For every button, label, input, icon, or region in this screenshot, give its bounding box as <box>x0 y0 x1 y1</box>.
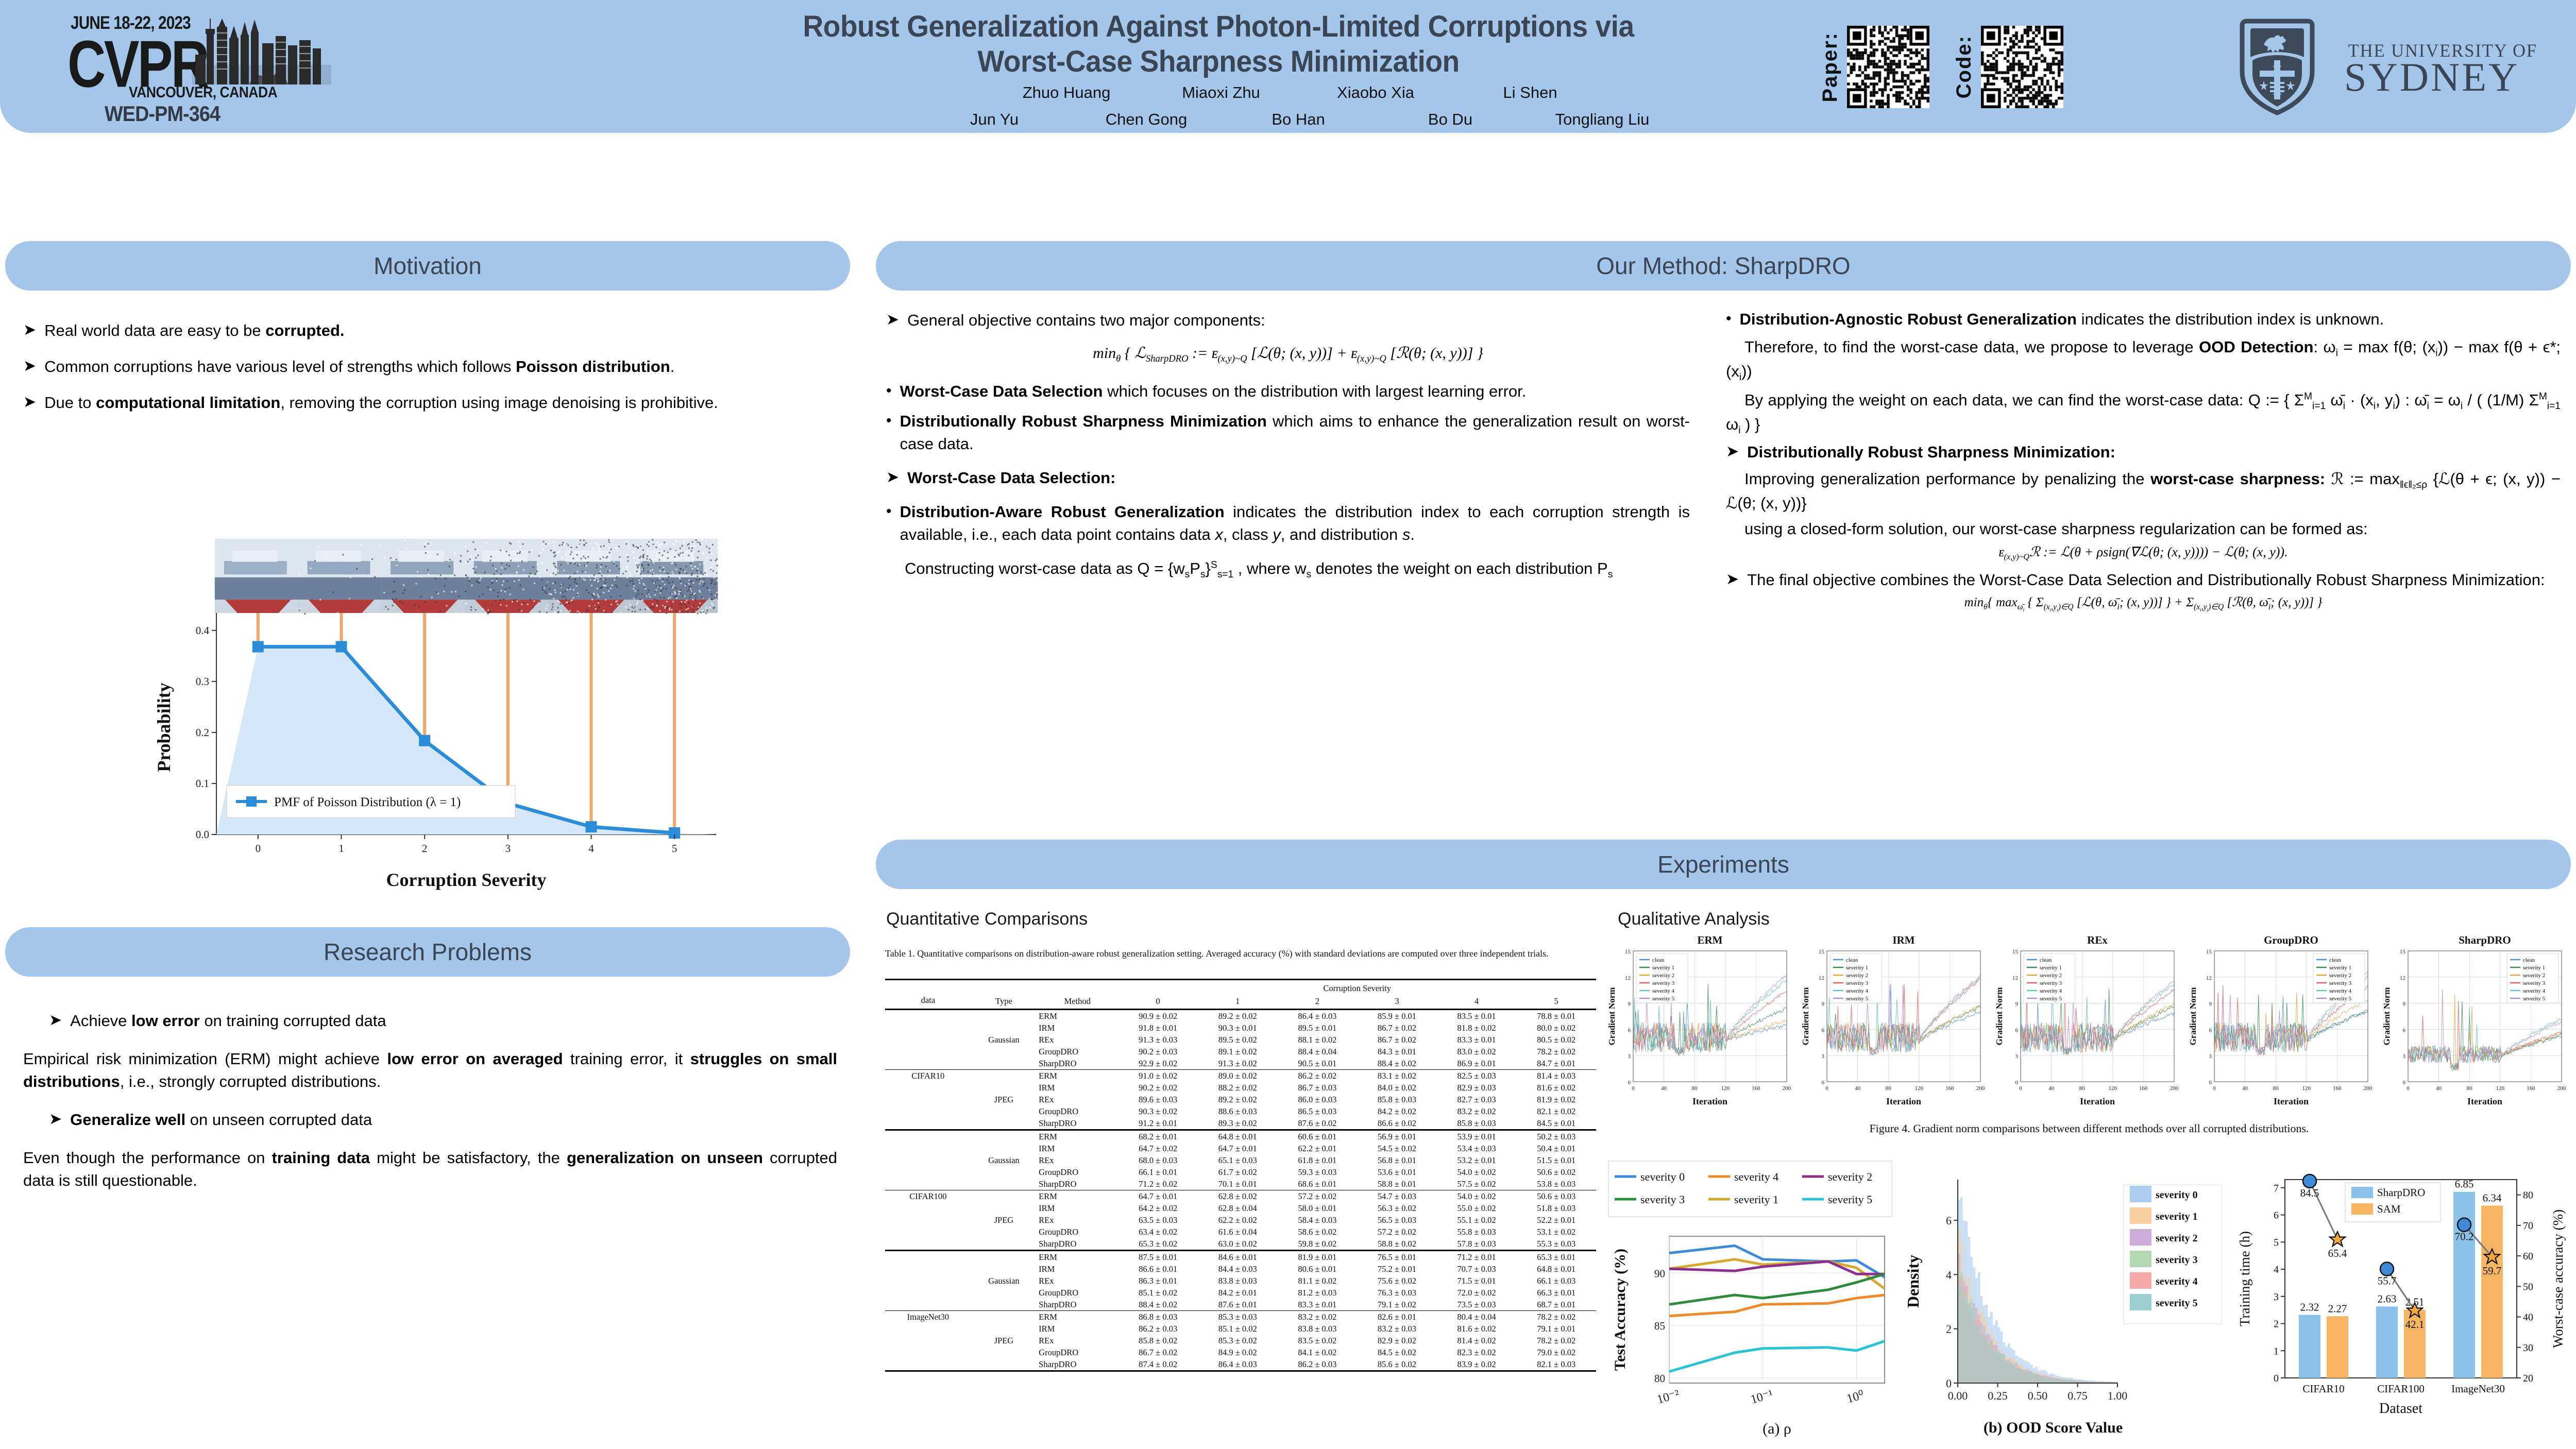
svg-text:severity 2: severity 2 <box>2523 973 2545 979</box>
svg-text:clean: clean <box>1846 957 1858 963</box>
accuracy-value: 65.4 <box>2328 1247 2347 1259</box>
svg-text:severity 5: severity 5 <box>2329 996 2352 1002</box>
bar-sam <box>2481 1206 2503 1378</box>
svg-text:0: 0 <box>2213 1085 2216 1092</box>
svg-text:80: 80 <box>1654 1372 1665 1385</box>
qualitative-analysis-label: Qualitative Analysis <box>1618 909 1770 929</box>
paper-qr-label: Paper: <box>1819 32 1842 103</box>
time-xlabel: Dataset <box>2379 1401 2422 1417</box>
table-row: IRM86.6 ± 0.0184.4 ± 0.0380.6 ± 0.0175.2… <box>885 1263 1596 1275</box>
svg-text:severity 1: severity 1 <box>1846 965 1868 971</box>
svg-text:severity 1: severity 1 <box>1652 965 1674 971</box>
title-line-2: Worst-Case Sharpness Minimization <box>692 44 1745 79</box>
svg-text:severity 4: severity 4 <box>1734 1170 1778 1183</box>
svg-text:40: 40 <box>2523 1312 2533 1323</box>
table-row: GaussianREx86.3 ± 0.0183.8 ± 0.0381.1 ± … <box>885 1275 1596 1287</box>
svg-text:90: 90 <box>1654 1267 1665 1280</box>
university-logo: THE UNIVERSITY OF SYDNEY <box>2190 13 2550 116</box>
section-header-motivation: Motivation <box>5 241 850 291</box>
bar-sharpdro <box>2376 1306 2398 1378</box>
svg-text:4: 4 <box>588 842 594 855</box>
author: Chen Gong <box>1071 110 1223 129</box>
rho-legend: severity 0severity 1severity 2severity 3… <box>1608 1161 1892 1217</box>
arrow-bullet-icon: ➤ <box>886 309 899 331</box>
svg-text:120: 120 <box>2302 1085 2311 1092</box>
ood-ylabel: Density <box>1904 1255 1922 1308</box>
svg-text:0: 0 <box>1825 1085 1828 1092</box>
training-time-chart: 01234567203040506070802.322.2784.565.4CI… <box>2236 1159 2571 1440</box>
research-bullet-text: Achieve low error on training corrupted … <box>70 1010 386 1032</box>
svg-text:15: 15 <box>1625 949 1631 955</box>
method-bullet: • Worst-Case Data Selection which focuse… <box>886 380 1690 403</box>
panel-title: ERM <box>1698 934 1723 946</box>
gradient-panel-irm: IRM0369121504080120160200cleanseverity 1… <box>1801 933 1985 1109</box>
svg-text:15: 15 <box>2206 949 2212 955</box>
paper-qr-code[interactable] <box>1847 26 1929 108</box>
svg-text:0.50: 0.50 <box>2028 1389 2048 1402</box>
method-bullet-text: Distributionally Robust Sharpness Minimi… <box>1747 441 2115 464</box>
panel-legend: cleanseverity 1severity 2severity 3sever… <box>1830 953 1882 1003</box>
svg-text:85: 85 <box>1654 1320 1665 1332</box>
method-heading: Our Method: SharpDRO <box>1596 252 1850 280</box>
table-row: IRM64.7 ± 0.0264.7 ± 0.0162.2 ± 0.0154.5… <box>885 1143 1596 1154</box>
svg-text:0: 0 <box>1822 1080 1825 1086</box>
svg-text:1.00: 1.00 <box>2108 1389 2128 1402</box>
svg-text:severity 4: severity 4 <box>1652 988 1675 994</box>
arrow-bullet-icon: ➤ <box>1726 569 1739 591</box>
svg-text:40: 40 <box>2436 1085 2442 1092</box>
table-row: ImageNet30ERM86.8 ± 0.0385.3 ± 0.0383.2 … <box>885 1311 1596 1323</box>
svg-text:3: 3 <box>2274 1291 2279 1303</box>
svg-text:0: 0 <box>2403 1080 2406 1086</box>
corruption-thumbnail <box>298 539 385 615</box>
svg-text:SharpDRO: SharpDRO <box>2377 1186 2425 1199</box>
svg-text:severity 0: severity 0 <box>1640 1170 1685 1183</box>
svg-text:1: 1 <box>338 842 344 855</box>
svg-text:50: 50 <box>2523 1281 2533 1292</box>
motivation-bullet-text: Due to computational limitation, removin… <box>44 391 718 414</box>
panel-ylabel: Gradient Norm <box>1801 987 1810 1046</box>
svg-text:0.75: 0.75 <box>2067 1389 2088 1402</box>
section-header-experiments: Experiments <box>876 840 2571 889</box>
table-row: JPEGREx85.8 ± 0.0285.3 ± 0.0283.5 ± 0.02… <box>885 1335 1596 1346</box>
svg-text:0.4: 0.4 <box>196 624 210 637</box>
svg-text:severity 3: severity 3 <box>1652 980 1675 986</box>
svg-text:9: 9 <box>1822 1001 1825 1008</box>
svg-text:severity 1: severity 1 <box>2523 965 2545 971</box>
cvpr-city: VANCOUVER, CANADA <box>129 84 277 101</box>
svg-text:severity 3: severity 3 <box>2040 980 2062 986</box>
corruption-thumbnail <box>548 539 636 615</box>
svg-text:0.00: 0.00 <box>1948 1389 1968 1402</box>
poisson-xlabel: Corruption Severity <box>386 870 547 890</box>
code-qr-group[interactable]: Code: <box>1953 21 2063 113</box>
table-row: JPEGREx63.5 ± 0.0362.2 ± 0.0258.4 ± 0.03… <box>885 1214 1596 1226</box>
gradient-panel-rex: REx0369121504080120160200cleanseverity 1… <box>1995 933 2178 1109</box>
svg-text:severity 3: severity 3 <box>1640 1193 1685 1206</box>
accuracy-value: 42.1 <box>2405 1318 2425 1331</box>
ood-legend: severity 0severity 1severity 2severity 3… <box>2124 1185 2222 1324</box>
method-bullet-text: Worst-Case Data Selection which focuses … <box>900 380 1527 403</box>
svg-text:clean: clean <box>2040 957 2052 963</box>
accuracy-value: 70.2 <box>2455 1231 2474 1243</box>
cvpr-session-id: WED-PM-364 <box>105 101 220 126</box>
svg-text:9: 9 <box>1628 1001 1631 1008</box>
svg-text:1: 1 <box>2274 1345 2279 1357</box>
svg-text:200: 200 <box>2170 1085 2178 1092</box>
accuracy-value: 59.7 <box>2483 1265 2502 1277</box>
dot-bullet-icon: • <box>886 380 892 402</box>
svg-text:80: 80 <box>2467 1085 2473 1092</box>
svg-text:120: 120 <box>2109 1085 2117 1092</box>
accuracy-value: 55.7 <box>2378 1275 2397 1287</box>
category-label: CIFAR100 <box>2377 1383 2425 1395</box>
svg-text:4: 4 <box>2274 1264 2279 1275</box>
accuracy-marker-sharpdro <box>2458 1218 2471 1232</box>
table-row: CIFAR10ERM91.0 ± 0.0289.0 ± 0.0286.2 ± 0… <box>885 1070 1596 1082</box>
svg-text:80: 80 <box>1886 1085 1892 1092</box>
rho-caption: (a) ρ <box>1762 1420 1791 1437</box>
svg-text:12: 12 <box>1819 975 1824 981</box>
svg-text:SAM: SAM <box>2377 1203 2401 1215</box>
svg-text:severity 2: severity 2 <box>1652 973 1674 979</box>
table-row: ERM87.5 ± 0.0184.6 ± 0.0181.9 ± 0.0176.5… <box>885 1251 1596 1264</box>
svg-text:0: 0 <box>2209 1080 2212 1086</box>
panel-ylabel: Gradient Norm <box>2382 987 2392 1046</box>
svg-text:200: 200 <box>1976 1085 1985 1092</box>
corruption-thumbnail <box>381 539 468 615</box>
section-header-research-problems: Research Problems <box>5 927 850 977</box>
svg-text:0.25: 0.25 <box>1988 1389 2008 1402</box>
bar-value: 2.27 <box>2328 1302 2347 1315</box>
panel-legend: cleanseverity 1severity 2severity 3sever… <box>2024 953 2075 1003</box>
dot-bullet-icon: • <box>1726 308 1732 330</box>
method-right-column: • Distribution-Agnostic Robust Generaliz… <box>1726 308 2561 613</box>
bar-value: 2.63 <box>2378 1292 2397 1305</box>
code-qr-code[interactable] <box>1981 26 2063 108</box>
svg-text:severity 1: severity 1 <box>2329 965 2351 971</box>
gradient-norm-figure: ERM0369121504080120160200cleanseverity 1… <box>1607 933 2571 1114</box>
table-row: GroupDRO85.1 ± 0.0284.2 ± 0.0181.2 ± 0.0… <box>885 1287 1596 1299</box>
svg-text:80: 80 <box>2079 1085 2086 1092</box>
accuracy-marker-sharpdro <box>2303 1174 2316 1188</box>
method-paragraph: Constructing worst-case data as Q = {wsP… <box>886 557 1690 582</box>
svg-text:severity 4: severity 4 <box>1846 988 1869 994</box>
equation-final-objective: minθ{ maxω̄i { Σ(xi,yi)∈Q [ℒ(θ, ω̄i; (x,… <box>1726 594 2561 613</box>
svg-text:60: 60 <box>2523 1251 2533 1262</box>
arrow-bullet-icon: ➤ <box>49 1010 62 1032</box>
svg-text:40: 40 <box>1855 1085 1861 1092</box>
time-chart-legend: SharpDROSAM <box>2345 1183 2441 1222</box>
svg-text:severity 4: severity 4 <box>2523 988 2546 994</box>
research-problems-body: ➤ Achieve low error on training corrupte… <box>23 1010 837 1192</box>
research-bullet-text: Generalize well on unseen corrupted data <box>70 1109 372 1131</box>
svg-text:0: 0 <box>2406 1085 2410 1092</box>
svg-text:3: 3 <box>2209 1053 2212 1060</box>
svg-text:10⁻²: 10⁻² <box>1655 1388 1681 1407</box>
ood-caption: (b) OOD Score Value <box>1984 1419 2123 1436</box>
motivation-heading: Motivation <box>374 252 482 280</box>
author: Miaoxi Zhu <box>1144 83 1298 102</box>
ood-score-density-chart: 02460.000.250.500.751.00severity 0severi… <box>1901 1159 2226 1440</box>
arrow-bullet-icon: ➤ <box>23 319 36 342</box>
method-bullet: ➤ Worst-Case Data Selection: <box>886 467 1690 489</box>
svg-text:6: 6 <box>1822 1027 1825 1033</box>
svg-text:severity 2: severity 2 <box>1846 973 1868 979</box>
motivation-body: ➤ Real world data are easy to be corrupt… <box>23 319 837 414</box>
table-row: SharpDRO92.9 ± 0.0291.3 ± 0.0290.5 ± 0.0… <box>885 1058 1596 1070</box>
accuracy-value: 84.5 <box>2300 1187 2319 1199</box>
table-row: IRM90.2 ± 0.0288.2 ± 0.0286.7 ± 0.0384.0… <box>885 1082 1596 1094</box>
poisson-marker <box>336 641 347 653</box>
svg-text:120: 120 <box>1915 1085 1924 1092</box>
arrow-bullet-icon: ➤ <box>49 1109 62 1131</box>
method-bullet-text: Distribution-Aware Robust Generalization… <box>900 501 1690 546</box>
bar-sam <box>2327 1316 2348 1378</box>
svg-text:severity 4: severity 4 <box>2156 1276 2198 1287</box>
panel-title: REx <box>2087 934 2108 946</box>
svg-text:severity 3: severity 3 <box>2329 980 2352 986</box>
svg-text:12: 12 <box>2206 975 2212 981</box>
svg-text:0.3: 0.3 <box>196 675 209 688</box>
author: Bo Du <box>1375 110 1527 129</box>
section-header-method: Our Method: SharpDRO <box>876 241 2571 291</box>
svg-text:clean: clean <box>2523 957 2535 963</box>
poisson-pmf-chart: 0.00.10.20.30.4012345Corruption Severity… <box>155 536 726 891</box>
svg-text:9: 9 <box>2209 1001 2212 1008</box>
bar-sharpdro <box>2299 1315 2320 1378</box>
table-row: GroupDRO86.7 ± 0.0284.9 ± 0.0284.1 ± 0.0… <box>885 1346 1596 1358</box>
arrow-bullet-icon: ➤ <box>1726 441 1739 463</box>
method-paragraph: using a closed-form solution, our worst-… <box>1726 518 2561 540</box>
table-row: GroupDRO66.1 ± 0.0161.7 ± 0.0259.3 ± 0.0… <box>885 1166 1596 1178</box>
svg-text:clean: clean <box>1652 957 1665 963</box>
svg-text:40: 40 <box>2242 1085 2248 1092</box>
svg-text:80: 80 <box>2273 1085 2279 1092</box>
panel-legend: cleanseverity 1severity 2severity 3sever… <box>2507 953 2558 1003</box>
arrow-bullet-icon: ➤ <box>23 355 36 378</box>
method-bullet: ➤ The final objective combines the Worst… <box>1726 569 2561 591</box>
bar-value: 6.34 <box>2483 1192 2502 1204</box>
svg-text:20: 20 <box>2523 1373 2533 1384</box>
poisson-marker <box>586 821 597 832</box>
motivation-bullet: ➤ Due to computational limitation, remov… <box>23 391 837 414</box>
panel-title: SharpDRO <box>2459 934 2511 946</box>
equation-general-objective: minθ { ℒSharpDRO := ᴇ(x,y)~Q [ℒ(θ; (x, y… <box>886 344 1690 365</box>
svg-text:severity 1: severity 1 <box>2156 1211 2198 1222</box>
author-list: Zhuo Huang Miaoxi Zhu Xiaobo Xia Li Shen… <box>845 83 1752 129</box>
svg-text:0: 0 <box>2019 1085 2022 1092</box>
svg-text:160: 160 <box>2527 1085 2535 1092</box>
method-bullet-text: Distribution-Agnostic Robust Generalizat… <box>1740 308 2384 331</box>
table-row: ERM68.2 ± 0.0164.8 ± 0.0160.6 ± 0.0156.9… <box>885 1130 1596 1143</box>
quantitative-comparisons-label: Quantitative Comparisons <box>886 909 1088 929</box>
experiments-heading: Experiments <box>1657 850 1789 878</box>
author: Zhuo Huang <box>989 83 1144 102</box>
motivation-bullet: ➤ Common corruptions have various level … <box>23 355 837 378</box>
svg-text:severity 0: severity 0 <box>2156 1189 2198 1201</box>
table-row: SharpDRO65.3 ± 0.0263.0 ± 0.0259.8 ± 0.0… <box>885 1238 1596 1251</box>
author-row-1: Zhuo Huang Miaoxi Zhu Xiaobo Xia Li Shen <box>845 83 1752 102</box>
method-bullet: • Distributionally Robust Sharpness Mini… <box>886 410 1690 455</box>
svg-text:3: 3 <box>1628 1053 1631 1060</box>
poisson-ylabel: Probability <box>154 683 174 772</box>
svg-text:160: 160 <box>1752 1085 1760 1092</box>
svg-text:2: 2 <box>1946 1323 1952 1336</box>
svg-text:6: 6 <box>1628 1027 1631 1033</box>
svg-text:3: 3 <box>1822 1053 1825 1060</box>
table-row: GaussianREx68.0 ± 0.0365.1 ± 0.0361.8 ± … <box>885 1154 1596 1166</box>
accuracy-marker-sharpdro <box>2380 1263 2394 1276</box>
category-label: ImageNet30 <box>2451 1383 2505 1395</box>
svg-text:severity 5: severity 5 <box>1846 996 1869 1002</box>
svg-text:15: 15 <box>2012 949 2019 955</box>
svg-text:severity 1: severity 1 <box>2040 965 2062 971</box>
svg-text:6: 6 <box>2403 1027 2406 1033</box>
vancouver-skyline-icon <box>192 18 331 84</box>
method-bullet-text: General objective contains two major com… <box>907 309 1265 332</box>
svg-text:severity 5: severity 5 <box>2156 1298 2198 1309</box>
corruption-thumbnail <box>631 539 719 615</box>
svg-text:0.1: 0.1 <box>196 777 209 790</box>
corruption-thumbnail <box>215 539 301 613</box>
svg-text:30: 30 <box>2523 1342 2533 1354</box>
svg-text:40: 40 <box>1661 1085 1667 1092</box>
svg-text:severity 1: severity 1 <box>1734 1193 1778 1206</box>
author-row-2: Jun Yu Chen Gong Bo Han Bo Du Tongliang … <box>845 110 1752 129</box>
motivation-bullet-text: Real world data are easy to be corrupted… <box>44 319 344 342</box>
svg-text:severity 3: severity 3 <box>2156 1254 2198 1266</box>
paper-qr-group[interactable]: Paper: <box>1819 21 1929 113</box>
svg-text:severity 5: severity 5 <box>1652 996 1675 1002</box>
motivation-bullet-text: Common corruptions have various level of… <box>44 355 674 378</box>
quantitative-table: Corruption SeveritydataTypeMethod012345E… <box>885 979 1596 1373</box>
svg-text:severity 2: severity 2 <box>2156 1233 2198 1244</box>
svg-text:severity 3: severity 3 <box>1846 980 1869 986</box>
figure4-caption: Figure 4. Gradient norm comparisons betw… <box>1607 1122 2571 1135</box>
svg-text:10⁰: 10⁰ <box>1845 1388 1866 1406</box>
svg-text:6: 6 <box>2015 1027 2019 1033</box>
svg-text:0: 0 <box>256 842 261 855</box>
svg-text:6: 6 <box>2274 1210 2279 1221</box>
method-left-column: ➤ General objective contains two major c… <box>886 309 1690 582</box>
svg-text:0: 0 <box>2015 1080 2019 1086</box>
svg-text:200: 200 <box>2364 1085 2372 1092</box>
method-paragraph: By applying the weight on each data, we … <box>1726 389 2561 438</box>
method-bullet: ➤ Distributionally Robust Sharpness Mini… <box>1726 441 2561 464</box>
panel-legend: cleanseverity 1severity 2severity 3sever… <box>2313 953 2365 1003</box>
svg-text:0.2: 0.2 <box>196 726 209 739</box>
svg-text:4: 4 <box>1946 1268 1952 1281</box>
research-bullet: ➤ Achieve low error on training corrupte… <box>23 1010 837 1032</box>
panel-xlabel: Iteration <box>1692 1096 1727 1106</box>
svg-text:severity 2: severity 2 <box>1828 1170 1872 1183</box>
table-caption: Table 1. Quantitative comparisons on dis… <box>885 947 1596 960</box>
table-row: IRM91.8 ± 0.0190.3 ± 0.0189.5 ± 0.0186.7… <box>885 1022 1596 1034</box>
svg-text:severity 2: severity 2 <box>2040 973 2062 979</box>
poisson-marker <box>252 641 264 653</box>
svg-text:10⁻¹: 10⁻¹ <box>1749 1388 1774 1407</box>
author: Jun Yu <box>919 110 1071 129</box>
panel-ylabel: Gradient Norm <box>2189 987 2198 1046</box>
corruption-thumbnail <box>465 539 552 615</box>
svg-text:80: 80 <box>2523 1190 2533 1201</box>
table-row: SharpDRO88.4 ± 0.0287.6 ± 0.0183.3 ± 0.0… <box>885 1299 1596 1311</box>
svg-text:severity 3: severity 3 <box>2523 980 2546 986</box>
table-row: ERM90.9 ± 0.0289.2 ± 0.0286.4 ± 0.0385.9… <box>885 1010 1596 1022</box>
svg-text:0.0: 0.0 <box>196 828 209 841</box>
table-row: GroupDRO90.3 ± 0.0288.6 ± 0.0386.5 ± 0.0… <box>885 1105 1596 1117</box>
table-row: SharpDRO87.4 ± 0.0286.4 ± 0.0386.2 ± 0.0… <box>885 1358 1596 1371</box>
svg-text:70: 70 <box>2523 1220 2533 1232</box>
author: Li Shen <box>1453 83 1607 102</box>
poisson-marker <box>419 735 430 746</box>
svg-text:3: 3 <box>2403 1053 2406 1060</box>
poster-title: Robust Generalization Against Photon-Lim… <box>665 9 1772 80</box>
code-qr-label: Code: <box>1953 35 1976 98</box>
svg-text:6: 6 <box>2209 1027 2212 1033</box>
method-paragraph: Therefore, to find the worst-case data, … <box>1726 336 2561 385</box>
table-row: JPEGREx89.6 ± 0.0389.2 ± 0.0286.0 ± 0.03… <box>885 1094 1596 1105</box>
svg-text:0: 0 <box>1628 1080 1631 1086</box>
svg-text:2: 2 <box>422 842 428 855</box>
svg-text:80: 80 <box>1692 1085 1698 1092</box>
svg-text:severity 5: severity 5 <box>2040 996 2062 1002</box>
svg-text:40: 40 <box>2048 1085 2055 1092</box>
poisson-legend: PMF of Poisson Distribution (λ = 1) <box>227 786 515 817</box>
svg-text:160: 160 <box>1945 1085 1954 1092</box>
arrow-bullet-icon: ➤ <box>23 391 36 414</box>
method-bullet: • Distribution-Aware Robust Generalizati… <box>886 501 1690 546</box>
dot-bullet-icon: • <box>886 410 892 432</box>
svg-text:PMF of Poisson Distribution (λ: PMF of Poisson Distribution (λ = 1) <box>274 795 461 809</box>
svg-text:12: 12 <box>1625 975 1631 981</box>
svg-text:9: 9 <box>2015 1001 2019 1008</box>
svg-text:12: 12 <box>2400 975 2405 981</box>
gradient-panel-erm: ERM0369121504080120160200cleanseverity 1… <box>1607 933 1791 1109</box>
gradient-panel-sharpdro: SharpDRO0369121504080120160200cleansever… <box>2382 933 2566 1109</box>
table-row: GroupDRO63.4 ± 0.0261.6 ± 0.0458.6 ± 0.0… <box>885 1226 1596 1238</box>
svg-text:5: 5 <box>672 842 677 855</box>
table-row: SharpDRO91.2 ± 0.0189.3 ± 0.0287.6 ± 0.0… <box>885 1117 1596 1130</box>
gradient-panel-groupdro: GroupDRO0369121504080120160200cleansever… <box>2189 933 2372 1109</box>
svg-text:0: 0 <box>1632 1085 1635 1092</box>
motivation-bullet: ➤ Real world data are easy to be corrupt… <box>23 319 837 342</box>
bar-value: 2.32 <box>2300 1301 2319 1314</box>
rho-sensitivity-chart: severity 0severity 1severity 2severity 3… <box>1607 1159 1896 1440</box>
panel-xlabel: Iteration <box>2274 1096 2309 1106</box>
method-bullet-text: Distributionally Robust Sharpness Minimi… <box>900 410 1690 455</box>
panel-xlabel: Iteration <box>1886 1096 1921 1106</box>
title-line-1: Robust Generalization Against Photon-Lim… <box>692 9 1745 44</box>
rho-ylabel: Test Accuracy (%) <box>1612 1249 1629 1371</box>
table-row: CIFAR100ERM64.7 ± 0.0162.8 ± 0.0257.2 ± … <box>885 1190 1596 1203</box>
svg-text:5: 5 <box>2274 1237 2279 1248</box>
svg-text:clean: clean <box>2329 957 2342 963</box>
svg-text:15: 15 <box>2400 949 2406 955</box>
svg-text:6: 6 <box>1946 1214 1952 1227</box>
bar-value: 6.85 <box>2455 1178 2474 1190</box>
svg-text:severity 5: severity 5 <box>1828 1193 1872 1206</box>
equation-sharpness-regularization: ᴇ(x,y)~Qℛ := ℒ(θ + ρsign(∇ℒ(θ; (x, y))))… <box>1726 544 2561 562</box>
panel-legend: cleanseverity 1severity 2severity 3sever… <box>1636 953 1688 1003</box>
svg-text:severity 2: severity 2 <box>2329 973 2351 979</box>
method-bullet-text: The final objective combines the Worst-C… <box>1747 569 2545 591</box>
svg-text:200: 200 <box>2557 1085 2566 1092</box>
svg-text:15: 15 <box>1819 949 1825 955</box>
time-ylabel: Training time (h) <box>2237 1231 2252 1326</box>
svg-text:severity 4: severity 4 <box>2040 988 2062 994</box>
